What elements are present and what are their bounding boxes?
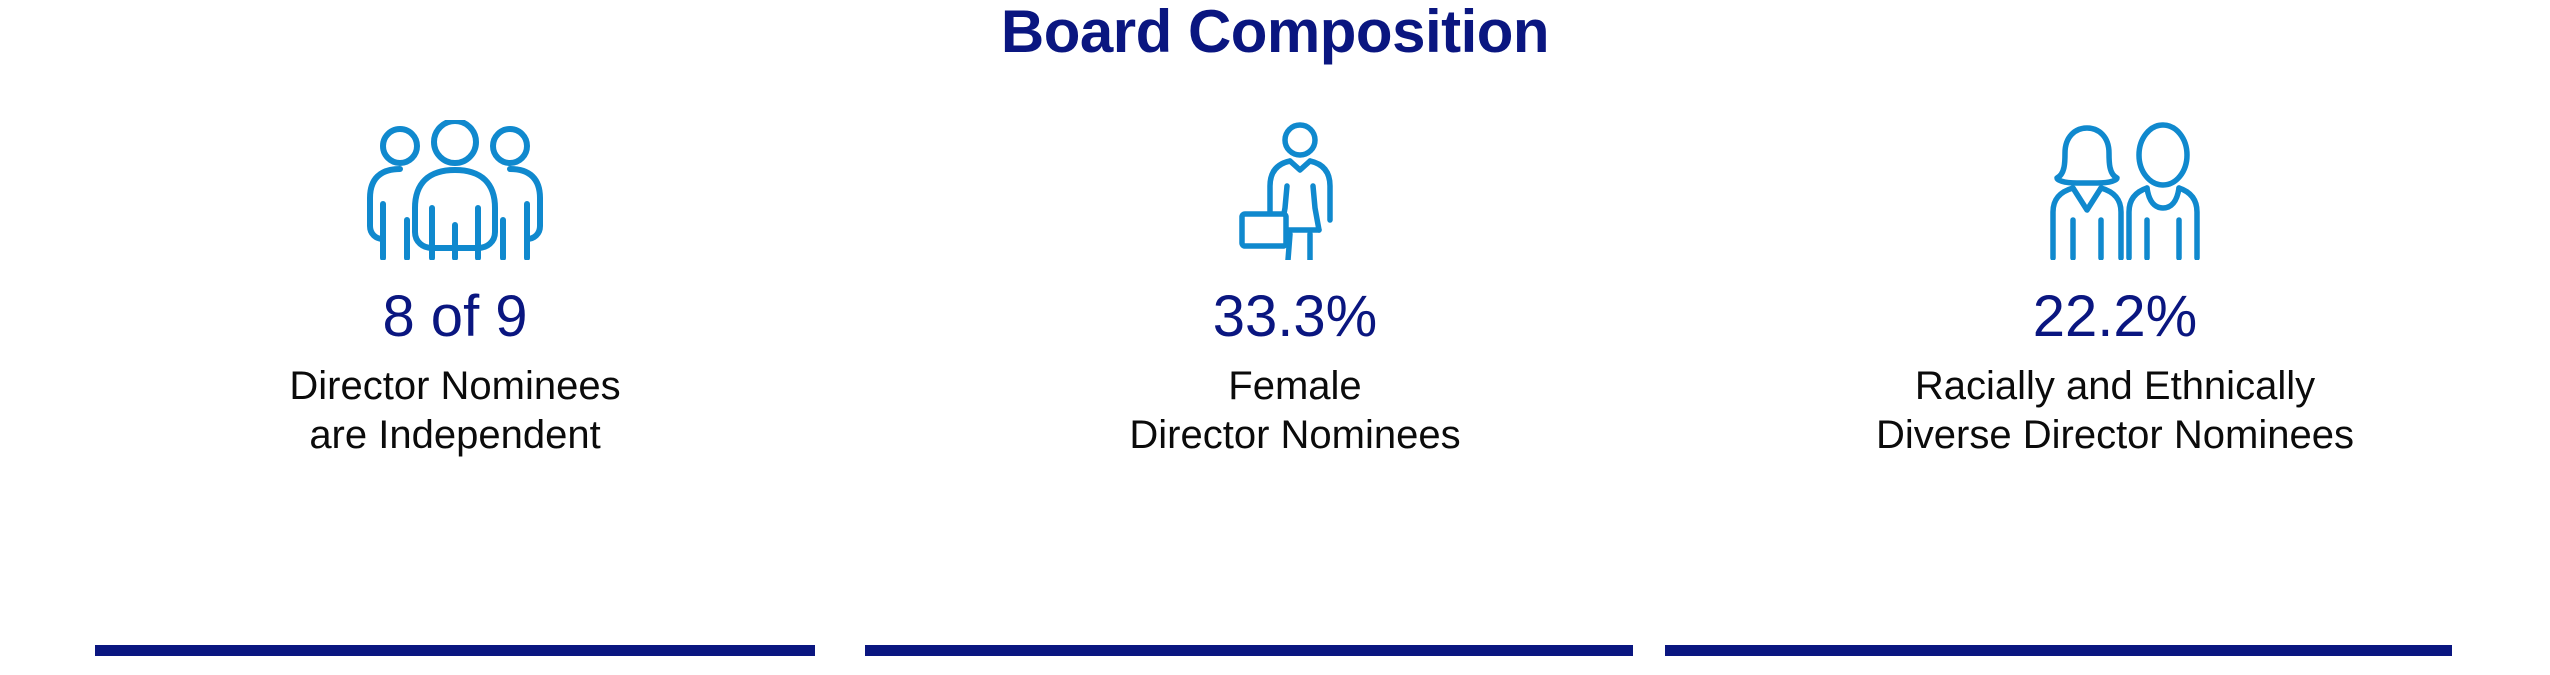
stat-caption: Female Director Nominees	[1129, 362, 1460, 460]
divider-rule-1	[95, 645, 815, 656]
stat-caption-line-1: Female	[1129, 362, 1460, 411]
divider-rule-3	[1665, 645, 2452, 656]
stat-caption-line-2: are Independent	[289, 411, 620, 460]
stat-caption: Racially and Ethnically Diverse Director…	[1876, 362, 2354, 460]
stat-value: 8 of 9	[382, 288, 527, 346]
stats-row: 8 of 9 Director Nominees are Independent	[0, 120, 2550, 460]
divider-rule-2	[865, 645, 1633, 656]
stat-caption: Director Nominees are Independent	[289, 362, 620, 460]
stat-card-independent-directors: 8 of 9 Director Nominees are Independent	[0, 120, 910, 460]
stat-caption-line-1: Director Nominees	[289, 362, 620, 411]
board-composition-infographic: Board Composition	[0, 0, 2550, 675]
stat-caption-line-2: Diverse Director Nominees	[1876, 411, 2354, 460]
page-title: Board Composition	[0, 2, 2550, 62]
stat-card-diverse-directors: 22.2% Racially and Ethnically Diverse Di…	[1680, 120, 2550, 460]
stat-caption-line-1: Racially and Ethnically	[1876, 362, 2354, 411]
two-diverse-people-icon	[2015, 120, 2215, 260]
businesswoman-with-briefcase-icon	[1230, 120, 1360, 260]
three-people-group-icon	[350, 120, 560, 260]
stat-caption-line-2: Director Nominees	[1129, 411, 1460, 460]
stat-value: 33.3%	[1213, 288, 1377, 346]
stat-card-female-directors: 33.3% Female Director Nominees	[910, 120, 1680, 460]
stat-value: 22.2%	[2033, 288, 2197, 346]
